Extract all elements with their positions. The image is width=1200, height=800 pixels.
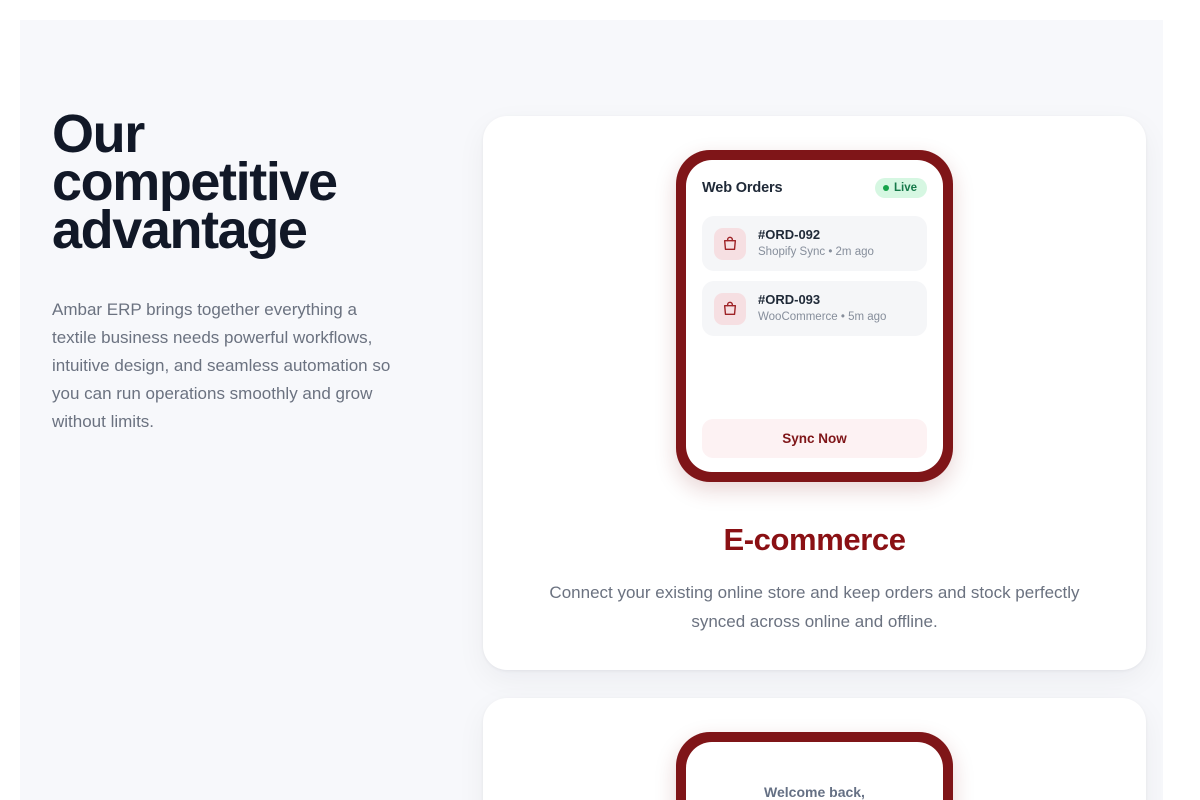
page-title: Our competitive advantage — [52, 110, 382, 254]
phone-greeting: Welcome back, — [702, 760, 927, 800]
order-list-item[interactable]: #ORD-092 Shopify Sync • 2m ago — [702, 216, 927, 271]
shopping-bag-icon — [714, 293, 746, 325]
order-meta: WooCommerce • 5m ago — [758, 309, 886, 325]
phone-mockup-wrapper: Web Orders Live — [511, 150, 1118, 482]
phone-frame: Web Orders Live — [676, 150, 953, 482]
feature-card-ecommerce: Web Orders Live — [483, 116, 1146, 670]
page-root: Our competitive advantage Ambar ERP brin… — [20, 20, 1163, 800]
phone-screen: Welcome back, — [686, 742, 943, 800]
feature-description: Connect your existing online store and k… — [511, 578, 1118, 636]
phone-mockup-wrapper: Welcome back, — [511, 732, 1118, 800]
feature-card-list: Web Orders Live — [483, 116, 1146, 800]
feature-card-secondary: Welcome back, — [483, 698, 1146, 800]
shopping-bag-icon — [714, 228, 746, 260]
order-meta: Shopify Sync • 2m ago — [758, 244, 874, 260]
order-text-block: #ORD-093 WooCommerce • 5m ago — [758, 292, 886, 325]
screen-spacer — [702, 346, 927, 419]
phone-frame: Welcome back, — [676, 732, 953, 800]
order-id: #ORD-093 — [758, 292, 886, 308]
sync-now-button[interactable]: Sync Now — [702, 419, 927, 458]
status-badge: Live — [875, 178, 927, 198]
intro-column: Our competitive advantage Ambar ERP brin… — [52, 110, 452, 436]
status-badge-label: Live — [894, 182, 917, 194]
phone-screen-header: Web Orders Live — [702, 178, 927, 198]
phone-screen-title: Web Orders — [702, 180, 782, 196]
intro-paragraph: Ambar ERP brings together everything a t… — [52, 296, 392, 436]
phone-screen: Web Orders Live — [686, 160, 943, 472]
order-text-block: #ORD-092 Shopify Sync • 2m ago — [758, 227, 874, 260]
feature-title: E-commerce — [511, 522, 1118, 558]
status-dot-icon — [883, 185, 889, 191]
order-list-item[interactable]: #ORD-093 WooCommerce • 5m ago — [702, 281, 927, 336]
order-id: #ORD-092 — [758, 227, 874, 243]
